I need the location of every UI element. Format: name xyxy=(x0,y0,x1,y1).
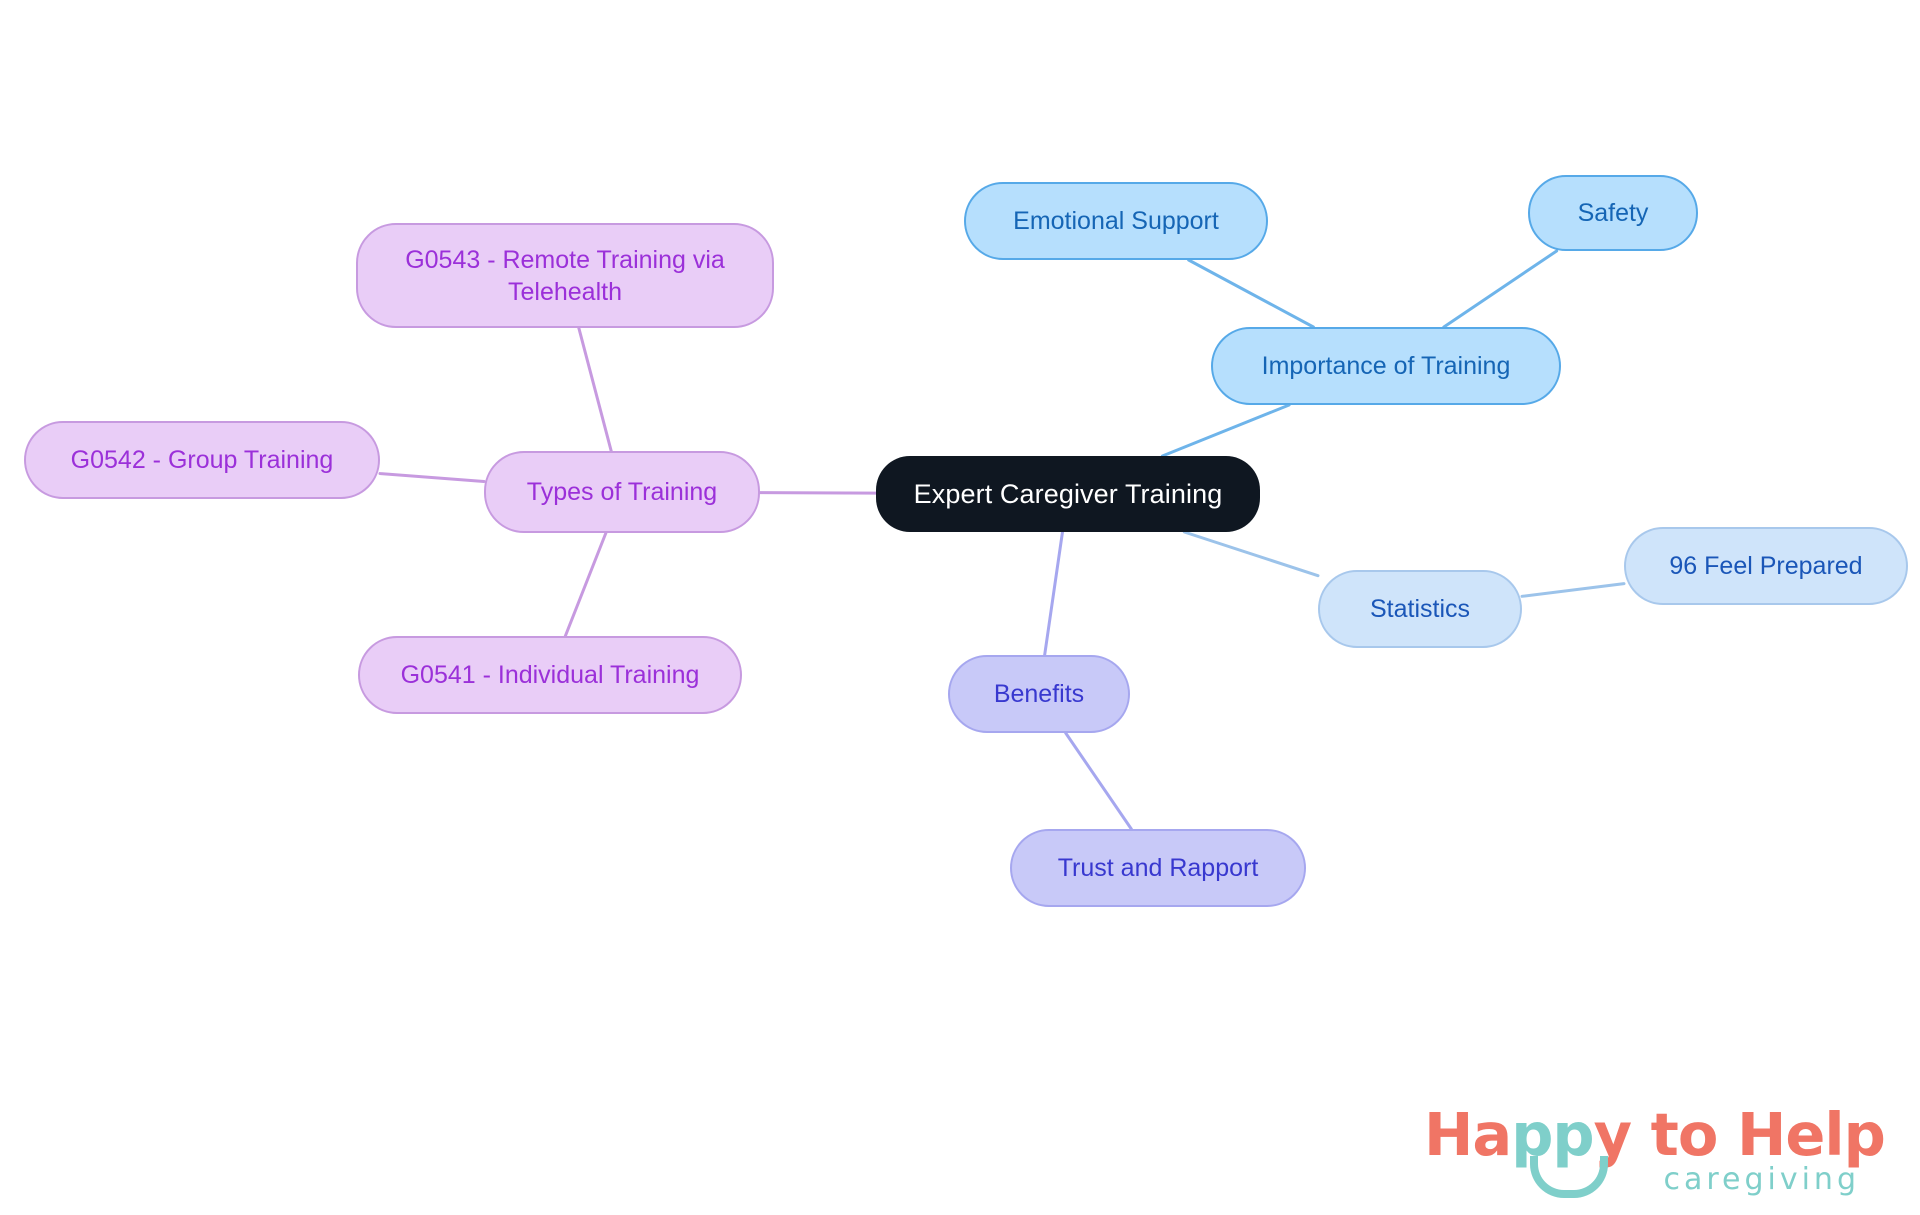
mindmap-node-g0541-individual-training[interactable]: G0541 - Individual Training xyxy=(358,636,742,714)
mindmap-node-types-of-training[interactable]: Types of Training xyxy=(484,451,760,533)
edge-types-to-g0542 xyxy=(380,474,484,482)
node-label: G0542 - Group Training xyxy=(71,444,334,476)
mindmap-node-emotional-support[interactable]: Emotional Support xyxy=(964,182,1268,260)
edge-types-to-g0541 xyxy=(565,533,606,636)
mindmap-node-importance-of-training[interactable]: Importance of Training xyxy=(1211,327,1561,405)
node-label: Types of Training xyxy=(527,476,717,508)
edge-root-to-importance xyxy=(1162,405,1289,456)
edge-importance-to-safety xyxy=(1444,251,1557,327)
edge-importance-to-emotional xyxy=(1189,260,1314,327)
node-label: Expert Caregiver Training xyxy=(914,477,1223,512)
mindmap-node-safety[interactable]: Safety xyxy=(1528,175,1698,251)
mindmap-node-benefits[interactable]: Benefits xyxy=(948,655,1130,733)
brand-wordmark: Happy to Help xyxy=(1424,1100,1885,1169)
node-label: Emotional Support xyxy=(1013,205,1219,237)
node-label: Trust and Rapport xyxy=(1058,852,1259,884)
mindmap-node-root[interactable]: Expert Caregiver Training xyxy=(876,456,1260,532)
node-label: G0541 - Individual Training xyxy=(401,659,700,691)
node-label: Statistics xyxy=(1370,593,1470,625)
edge-statistics-to-prepared xyxy=(1522,584,1624,597)
node-label: Benefits xyxy=(994,678,1084,710)
mindmap-canvas: Expert Caregiver Training Types of Train… xyxy=(0,0,1920,1215)
brand-part-1: Ha xyxy=(1424,1100,1511,1169)
node-label: Safety xyxy=(1578,197,1649,229)
mindmap-node-g0543-remote-training[interactable]: G0543 - Remote Training via Telehealth xyxy=(356,223,774,328)
edge-root-to-benefits xyxy=(1045,532,1063,655)
edge-root-to-statistics xyxy=(1184,532,1318,576)
mindmap-node-statistics[interactable]: Statistics xyxy=(1318,570,1522,648)
brand-part-3: y to Help xyxy=(1594,1100,1885,1169)
node-label: 96 Feel Prepared xyxy=(1669,550,1862,582)
mindmap-node-96-feel-prepared[interactable]: 96 Feel Prepared xyxy=(1624,527,1908,605)
smile-icon xyxy=(1530,1156,1608,1198)
mindmap-node-g0542-group-training[interactable]: G0542 - Group Training xyxy=(24,421,380,499)
node-label: G0543 - Remote Training via Telehealth xyxy=(405,244,725,308)
edge-benefits-to-trust xyxy=(1066,733,1132,829)
mindmap-node-trust-and-rapport[interactable]: Trust and Rapport xyxy=(1010,829,1306,907)
brand-tagline: caregiving xyxy=(1663,1162,1860,1197)
brand-logo: Happy to Help caregiving xyxy=(1424,1100,1864,1200)
node-label: Importance of Training xyxy=(1262,350,1511,382)
edge-root-to-types xyxy=(760,493,876,494)
edge-types-to-g0543 xyxy=(579,328,611,451)
